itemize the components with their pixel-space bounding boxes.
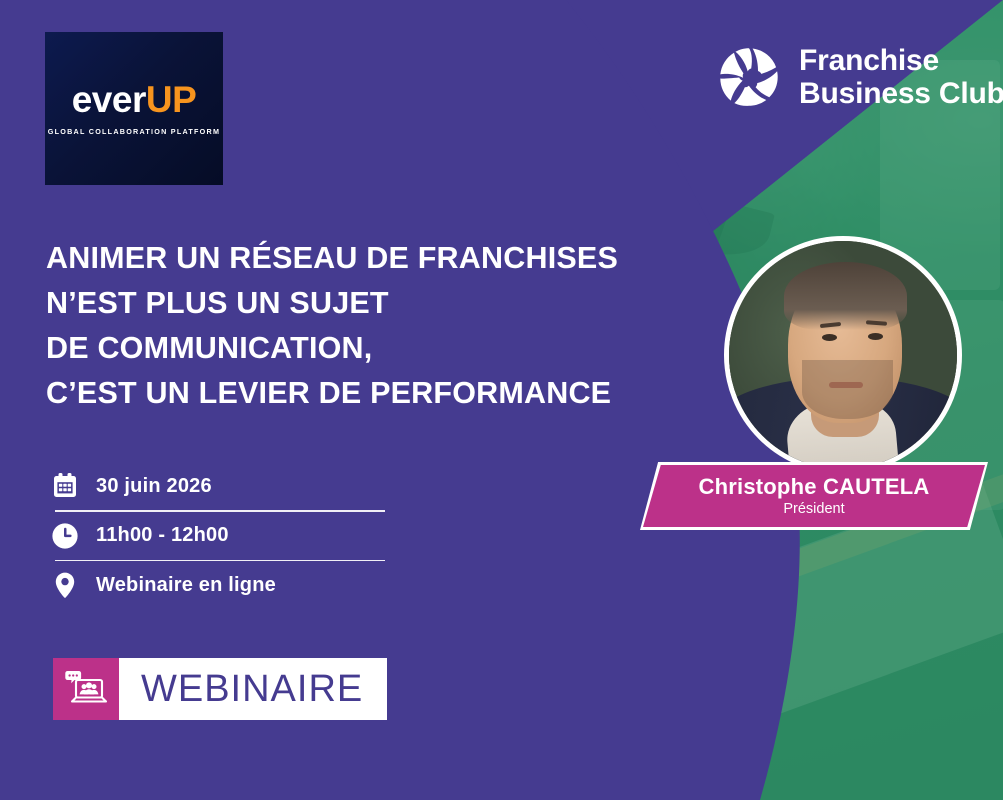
location-pin-icon [50,570,80,600]
speaker-name-banner: Christophe CAUTELA Président [640,462,988,530]
webinaire-badge: WEBINAIRE [53,658,387,720]
event-location-text: Webinaire en ligne [96,574,276,597]
headline-line-1: ANIMER UN RÉSEAU DE FRANCHISES [46,236,646,281]
event-time-text: 11h00 - 12h00 [96,524,229,547]
event-details: 30 juin 2026 11h00 - 12h00 Webinair [50,462,390,609]
headline-line-4: C’EST UN LEVIER DE PERFORMANCE [46,371,646,416]
event-date-row: 30 juin 2026 [50,462,390,510]
clock-icon [50,521,80,551]
fbc-line-2: Business Club [799,77,1003,110]
fbc-line-1: Franchise [799,44,939,77]
event-location-row: Webinaire en ligne [50,561,390,609]
divider-2 [55,560,385,562]
webinar-promo-poster: everUP GLOBAL COLLABORATION PLATFORM ANI… [0,0,1003,800]
speaker-role: Président [783,500,844,519]
webinaire-label: WEBINAIRE [119,658,387,720]
speaker-name: Christophe CAUTELA [699,474,930,499]
franchise-business-club-wordmark: Franchise Business Club [799,44,1003,110]
everup-logo: everUP GLOBAL COLLABORATION PLATFORM [45,32,223,185]
webinar-laptop-people-icon [53,658,119,720]
calendar-icon [50,471,80,501]
event-date-text: 30 juin 2026 [96,475,212,498]
headline-line-3: DE COMMUNICATION, [46,326,646,371]
event-time-row: 11h00 - 12h00 [50,512,390,560]
divider-1 [55,510,385,512]
headline: ANIMER UN RÉSEAU DE FRANCHISES N’EST PLU… [46,236,646,416]
everup-name-first: ever [72,79,146,120]
everup-wordmark: everUP [72,81,197,118]
everup-tagline: GLOBAL COLLABORATION PLATFORM [48,127,220,136]
franchise-business-club-logo: Franchise Business Club [716,44,1003,110]
everup-name-second: UP [146,79,196,120]
speaker-portrait [724,236,962,474]
headline-line-2: N’EST PLUS UN SUJET [46,281,646,326]
franchise-business-club-pinwheel-icon [716,44,782,110]
